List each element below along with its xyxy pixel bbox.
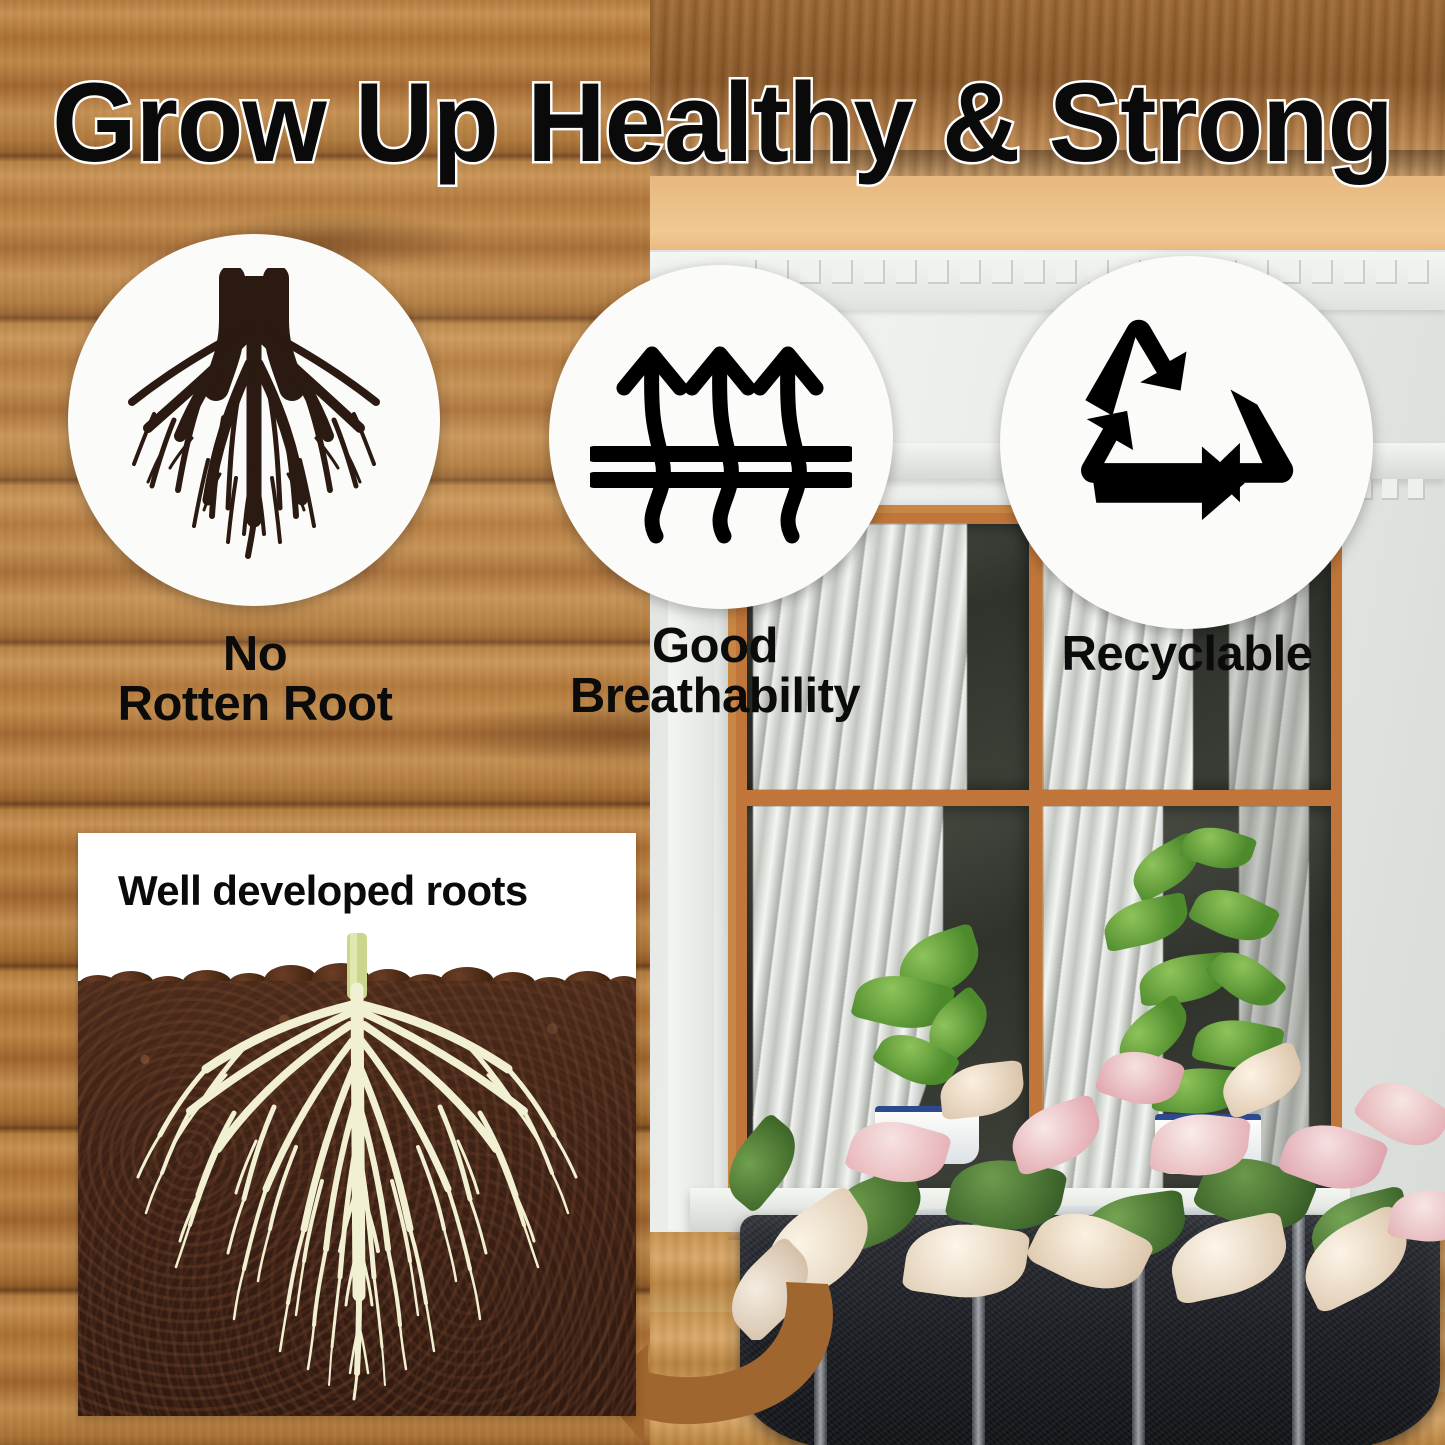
recycle-icon — [1044, 298, 1329, 588]
feature-label-good-breathability: Good Breathability — [480, 622, 950, 722]
curved-arrow-pointing-left — [596, 1248, 916, 1445]
feature-label-recyclable: Recyclable — [1000, 630, 1374, 680]
breathable-airflow-icon — [590, 304, 852, 571]
feature-icon-circle-recyclable — [1000, 256, 1373, 629]
feature-icon-circle-good-breathability — [549, 265, 893, 609]
root-system-diagram — [78, 933, 636, 1416]
roots-panel-title: Well developed roots — [118, 867, 528, 915]
product-feature-graphic: Grow Up Healthy & Strong — [0, 0, 1445, 1445]
feature-label-no-rotten-root: No Rotten Root — [40, 630, 470, 730]
root-system-icon — [104, 268, 404, 573]
feature-icon-circle-no-rotten-root — [68, 234, 440, 606]
page-title: Grow Up Healthy & Strong — [22, 58, 1424, 187]
well-developed-roots-panel: Well developed roots — [78, 833, 636, 1416]
